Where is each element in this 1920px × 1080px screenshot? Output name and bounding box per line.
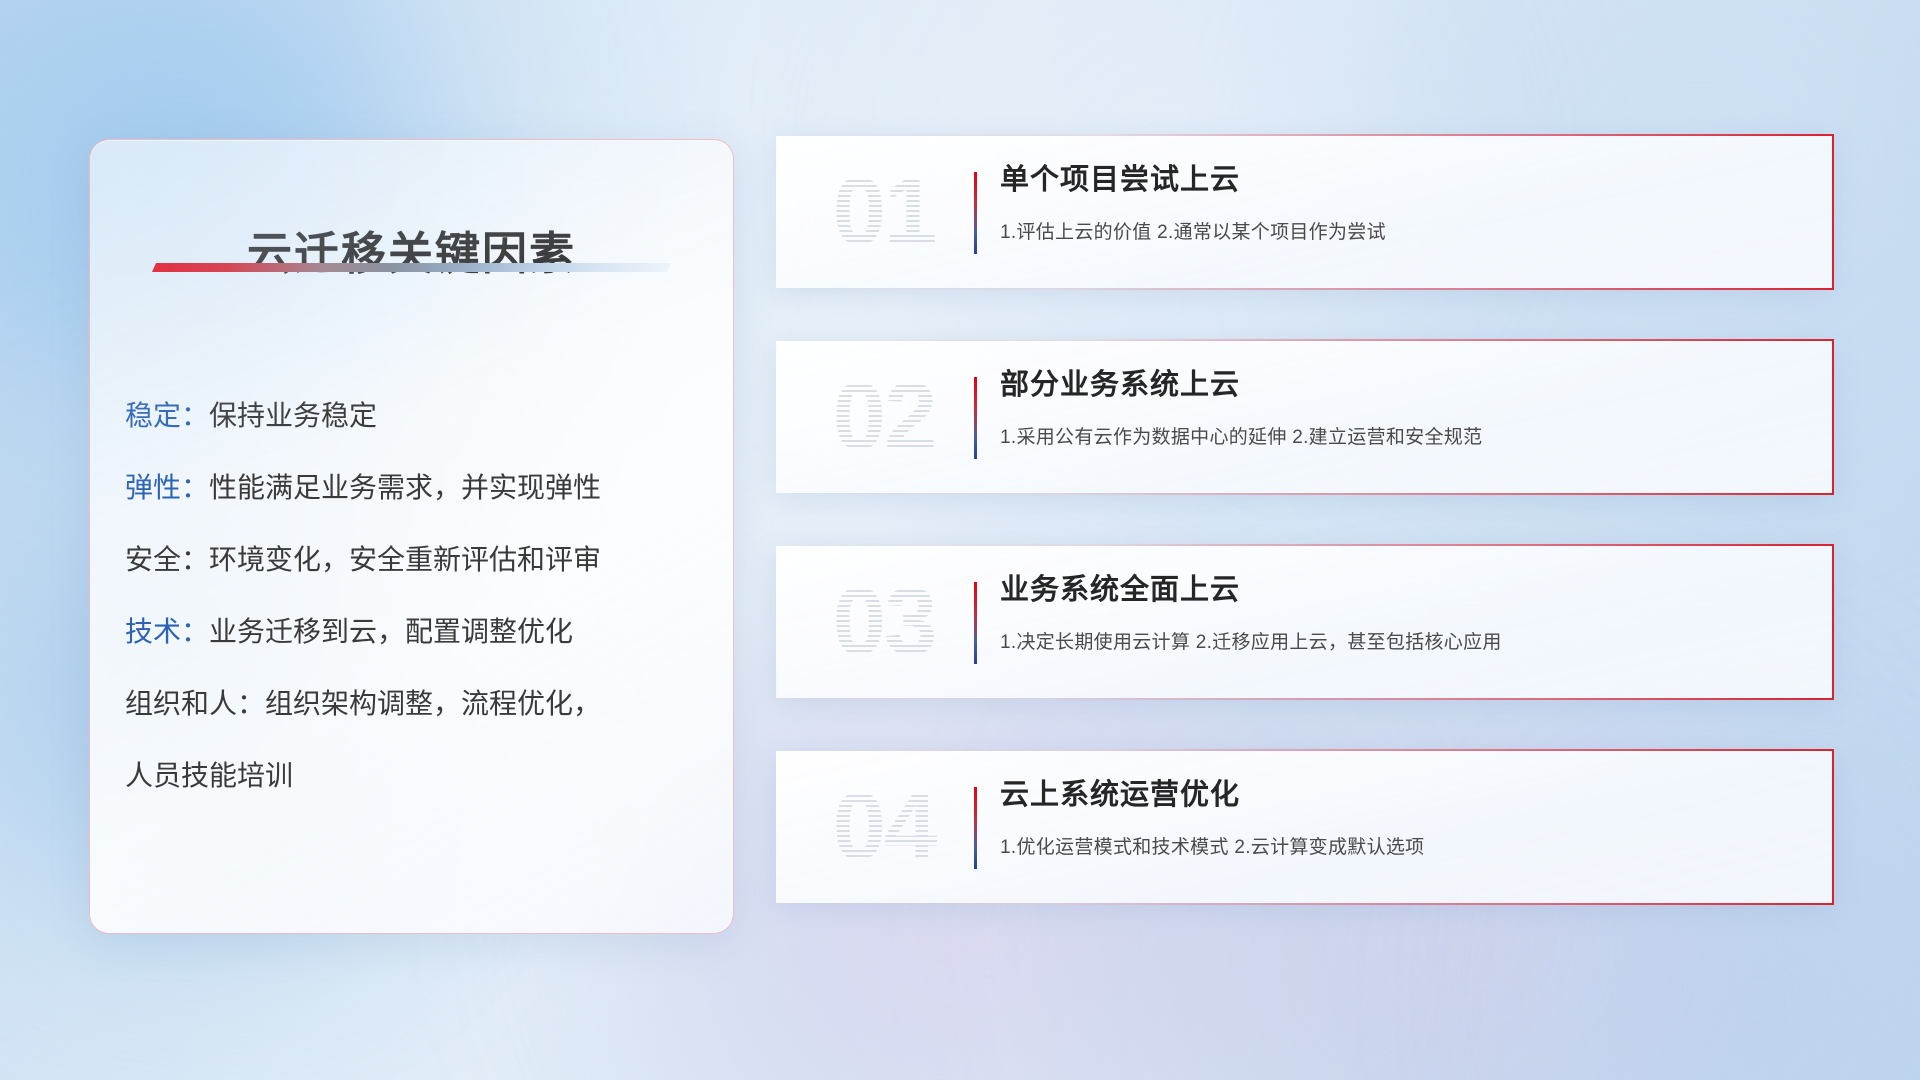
gradient-divider-bar <box>974 787 977 869</box>
card-description: 1.优化运营模式和技术模式 2.云计算变成默认选项 <box>1000 834 1804 862</box>
slide-stage: 云迁移关键因素 稳定：保持业务稳定 弹性：性能满足业务需求，并实现弹性 安全：环… <box>0 0 1920 1080</box>
factor-item-organization: 组织和人：组织架构调整，流程优化， <box>125 668 709 740</box>
card-title: 业务系统全面上云 <box>1000 570 1804 610</box>
factor-text: 组织架构调整，流程优化， <box>265 688 601 719</box>
factor-text: 业务迁移到云，配置调整优化 <box>209 616 573 647</box>
factor-text: 保持业务稳定 <box>209 400 377 431</box>
factor-label: 弹性： <box>125 472 209 503</box>
gradient-divider-bar <box>974 582 977 664</box>
stage-card-list: 01 单个项目尝试上云 1.评估上云的价值 2.通常以某个项目作为尝试 02 部… <box>776 136 1832 956</box>
factor-text: 性能满足业务需求，并实现弹性 <box>209 472 601 503</box>
stage-card-03[interactable]: 03 业务系统全面上云 1.决定长期使用云计算 2.迁移应用上云，甚至包括核心应… <box>776 546 1832 698</box>
card-body: 业务系统全面上云 1.决定长期使用云计算 2.迁移应用上云，甚至包括核心应用 <box>1000 570 1804 676</box>
card-accent-edge <box>1832 339 1834 495</box>
stage-card-01[interactable]: 01 单个项目尝试上云 1.评估上云的价值 2.通常以某个项目作为尝试 <box>776 136 1832 288</box>
card-body: 云上系统运营优化 1.优化运营模式和技术模式 2.云计算变成默认选项 <box>1000 775 1804 881</box>
title-underline-bar <box>152 263 671 272</box>
factor-label: 稳定： <box>125 400 209 431</box>
factor-item-technology: 技术：业务迁移到云，配置调整优化 <box>125 596 709 668</box>
card-description: 1.评估上云的价值 2.通常以某个项目作为尝试 <box>1000 219 1804 247</box>
stage-number: 03 <box>809 560 959 684</box>
card-description: 1.采用公有云作为数据中心的延伸 2.建立运营和安全规范 <box>1000 424 1804 452</box>
card-body: 单个项目尝试上云 1.评估上云的价值 2.通常以某个项目作为尝试 <box>1000 160 1804 266</box>
factor-label: 组织和人： <box>125 688 265 719</box>
factor-item-stability: 稳定：保持业务稳定 <box>125 380 709 452</box>
factor-label: 技术： <box>125 616 209 647</box>
card-accent-edge <box>1832 544 1834 700</box>
key-factors-panel: 云迁移关键因素 稳定：保持业务稳定 弹性：性能满足业务需求，并实现弹性 安全：环… <box>89 139 734 934</box>
card-title: 部分业务系统上云 <box>1000 365 1804 405</box>
factor-item-organization-continued: 人员技能培训 <box>125 740 709 812</box>
gradient-divider-bar <box>974 172 977 254</box>
card-accent-edge <box>1832 134 1834 290</box>
stage-card-02[interactable]: 02 部分业务系统上云 1.采用公有云作为数据中心的延伸 2.建立运营和安全规范 <box>776 341 1832 493</box>
stage-number: 02 <box>809 355 959 479</box>
factor-label: 安全： <box>125 544 209 575</box>
card-description: 1.决定长期使用云计算 2.迁移应用上云，甚至包括核心应用 <box>1000 629 1804 657</box>
factor-text: 环境变化，安全重新评估和评审 <box>209 544 601 575</box>
page-title: 云迁移关键因素 <box>90 217 733 282</box>
factor-item-security: 安全：环境变化，安全重新评估和评审 <box>125 524 709 596</box>
stage-number: 04 <box>809 765 959 889</box>
card-title: 云上系统运营优化 <box>1000 775 1804 815</box>
factor-item-elasticity: 弹性：性能满足业务需求，并实现弹性 <box>125 452 709 524</box>
card-body: 部分业务系统上云 1.采用公有云作为数据中心的延伸 2.建立运营和安全规范 <box>1000 365 1804 471</box>
stage-card-04[interactable]: 04 云上系统运营优化 1.优化运营模式和技术模式 2.云计算变成默认选项 <box>776 751 1832 903</box>
factor-list: 稳定：保持业务稳定 弹性：性能满足业务需求，并实现弹性 安全：环境变化，安全重新… <box>125 380 709 812</box>
gradient-divider-bar <box>974 377 977 459</box>
card-title: 单个项目尝试上云 <box>1000 160 1804 200</box>
stage-number: 01 <box>809 150 959 274</box>
card-accent-edge <box>1832 749 1834 905</box>
factor-text: 人员技能培训 <box>125 760 293 791</box>
